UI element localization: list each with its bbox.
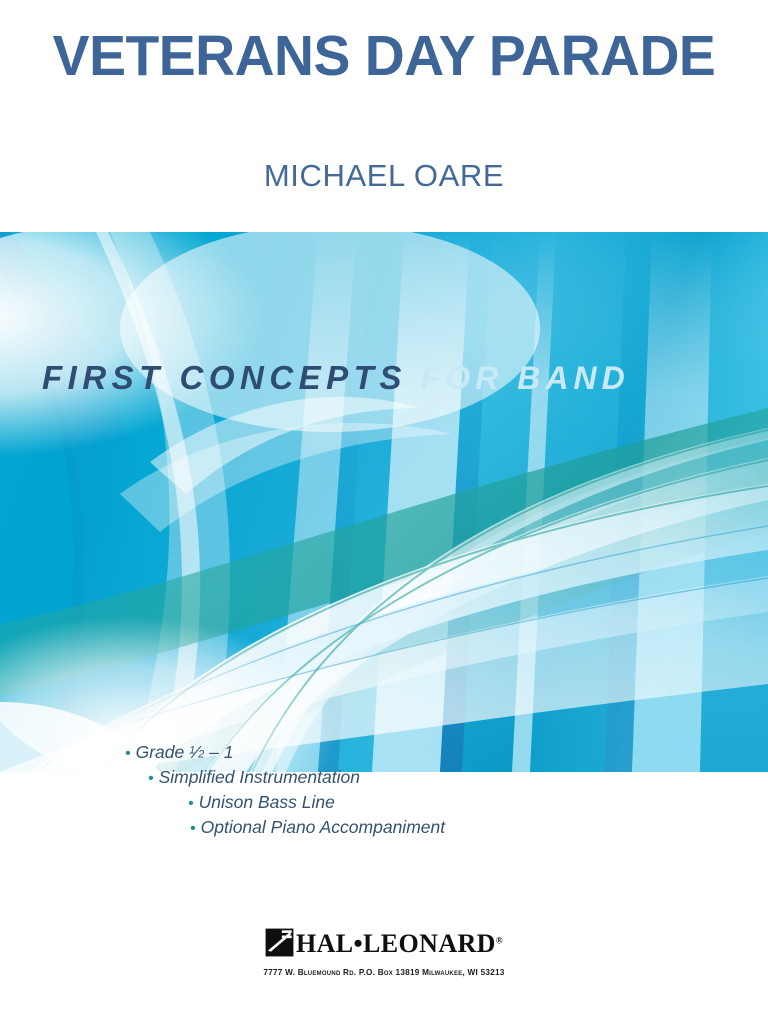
bullet-dot-icon: • [188,796,194,812]
list-item-label: Optional Piano Accompaniment [201,815,446,840]
registered-mark: ® [496,935,503,945]
artwork-svg [0,232,768,772]
title-block: VETERANS DAY PARADE [0,28,768,85]
publisher-name: HAL•LEONARD® [296,931,503,957]
sheet-music-cover: VETERANS DAY PARADE MICHAEL OARE FIRST C… [0,0,768,1024]
list-item: • Optional Piano Accompaniment [0,815,768,840]
list-item-label: Simplified Instrumentation [159,765,360,790]
bullet-dot-icon: • [125,746,131,762]
feature-list: • Grade 1⁄2 – 1 • Simplified Instrumenta… [0,740,768,839]
composer-name: MICHAEL OARE [0,158,768,194]
grade-fraction: 1⁄2 [189,742,204,762]
series-secondary-label: FOR BAND [421,360,630,397]
abstract-ribbon-artwork [0,232,768,772]
list-item: • Simplified Instrumentation [0,765,768,790]
publisher-address: 7777 W. Bluemound Rd. P.O. Box 13819 Mil… [0,968,768,977]
hal-leonard-square-slash-icon [265,928,294,957]
list-item: • Unison Bass Line [0,790,768,815]
publisher-block: HAL•LEONARD® 7777 W. Bluemound Rd. P.O. … [0,928,768,977]
series-line: FIRST CONCEPTS FOR BAND [42,358,732,398]
hal-leonard-logo: HAL•LEONARD® [265,928,503,957]
list-item-label: Grade 1⁄2 – 1 [136,740,234,765]
page-title: VETERANS DAY PARADE [12,28,757,85]
list-item: • Grade 1⁄2 – 1 [0,740,768,765]
bullet-dot-icon: • [148,771,154,787]
list-item-label: Unison Bass Line [199,790,335,815]
series-primary-label: FIRST CONCEPTS [42,359,407,397]
bullet-dot-icon: • [190,821,196,837]
composer-block: MICHAEL OARE [0,158,768,194]
